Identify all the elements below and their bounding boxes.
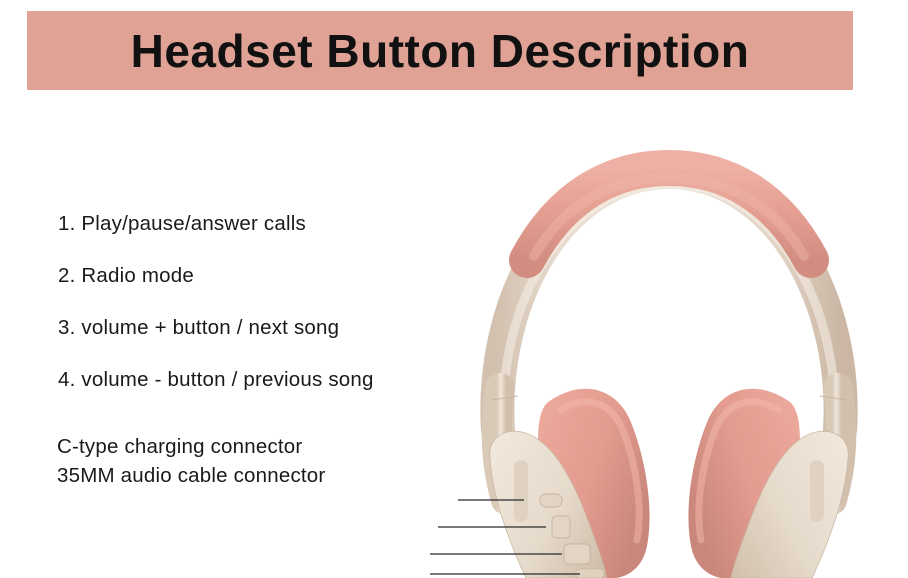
headset-illustration: L R: [430, 110, 908, 578]
connector-line: 35MM audio cable connector: [57, 461, 457, 490]
headset-graphic: L R: [430, 110, 908, 578]
left-cup-slot: [514, 460, 528, 522]
play-pause-button: [540, 494, 562, 507]
right-cup-slot: [810, 460, 824, 522]
headset-description-page: Headset Button Description 1. Play/pause…: [0, 0, 908, 578]
volume-down-button: [576, 569, 604, 578]
connector-notes: C-type charging connector 35MM audio cab…: [57, 432, 457, 490]
list-item: 2. Radio mode: [58, 250, 458, 302]
page-title: Headset Button Description: [131, 28, 750, 74]
list-item: 3. volume + button / next song: [58, 302, 458, 354]
title-banner: Headset Button Description: [27, 11, 853, 90]
volume-up-button: [564, 544, 590, 564]
connector-line: C-type charging connector: [57, 432, 457, 461]
list-item: 1. Play/pause/answer calls: [58, 198, 458, 250]
list-item: 4. volume - button / previous song: [58, 354, 458, 406]
feature-list: 1. Play/pause/answer calls 2. Radio mode…: [58, 198, 458, 406]
head-cushion: [527, 168, 811, 260]
radio-mode-button: [552, 516, 570, 538]
